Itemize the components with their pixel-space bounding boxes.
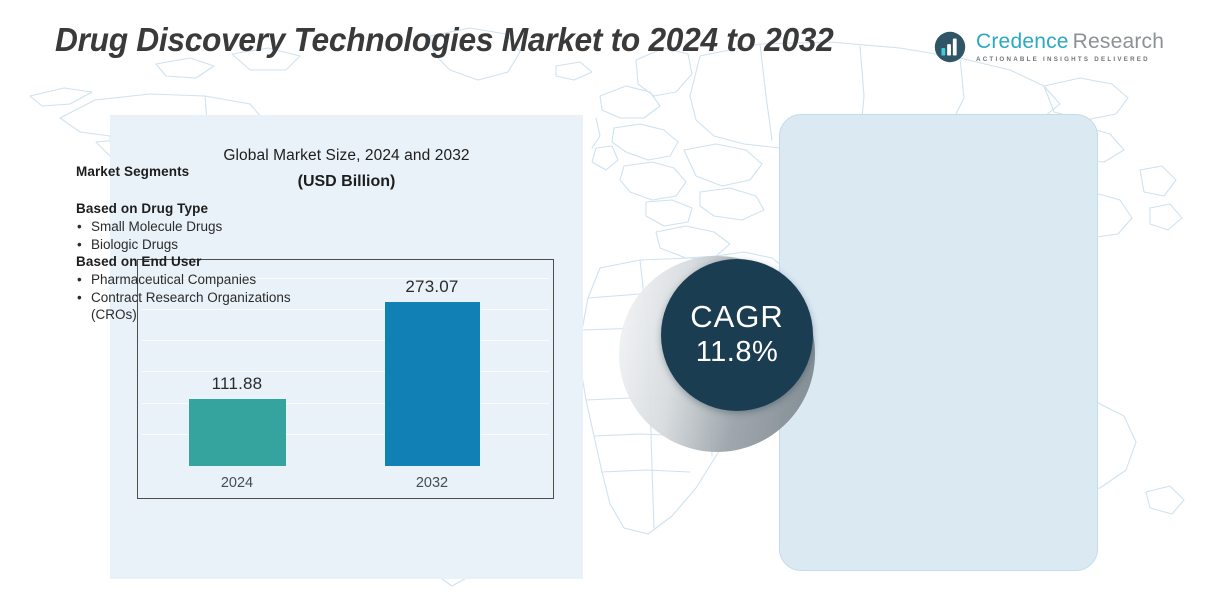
market-segments: Market Segments Based on Drug Type•Small… bbox=[76, 164, 326, 324]
chart-title: Global Market Size, 2024 and 2032 bbox=[110, 147, 583, 165]
bar-value-label: 273.07 bbox=[352, 277, 512, 297]
segment-group: Based on Drug Type•Small Molecule Drugs•… bbox=[76, 201, 326, 253]
list-item: •Pharmaceutical Companies bbox=[76, 271, 326, 288]
bar-chart-circle-icon bbox=[931, 28, 969, 66]
segment-groups: Based on Drug Type•Small Molecule Drugs•… bbox=[76, 201, 326, 323]
cagr-badge: CAGR 11.8% bbox=[619, 276, 835, 432]
brand-name-primary: Credence bbox=[976, 30, 1069, 53]
brand-name-secondary: Research bbox=[1073, 30, 1164, 53]
bullet-icon: • bbox=[77, 236, 82, 253]
bar-2032 bbox=[385, 302, 480, 466]
cagr-value: 11.8% bbox=[696, 336, 779, 369]
bullet-icon: • bbox=[77, 271, 82, 288]
segment-group-heading: Based on Drug Type bbox=[76, 201, 326, 216]
segments-title: Market Segments bbox=[76, 164, 326, 179]
list-item: •Biologic Drugs bbox=[76, 236, 326, 253]
header: Drug Discovery Technologies Market to 20… bbox=[0, 0, 1208, 104]
segment-group: Based on End User•Pharmaceutical Compani… bbox=[76, 254, 326, 323]
brand-tagline: Actionable Insights Delivered bbox=[976, 57, 1164, 63]
list-item: •Contract Research Organizations (CROs) bbox=[76, 289, 326, 323]
x-axis-label: 2024 bbox=[157, 475, 317, 491]
segment-group-heading: Based on End User bbox=[76, 254, 326, 269]
brand-text: CredenceResearch Actionable Insights Del… bbox=[976, 31, 1164, 63]
list-item: •Small Molecule Drugs bbox=[76, 218, 326, 235]
segment-item-list: •Small Molecule Drugs•Biologic Drugs bbox=[76, 218, 326, 253]
bullet-icon: • bbox=[77, 218, 82, 235]
bar-2024 bbox=[189, 399, 286, 466]
x-axis-label: 2032 bbox=[352, 475, 512, 491]
brand-logo[interactable]: CredenceResearch Actionable Insights Del… bbox=[931, 28, 1164, 66]
segment-item-list: •Pharmaceutical Companies•Contract Resea… bbox=[76, 271, 326, 323]
cagr-circle: CAGR 11.8% bbox=[661, 259, 813, 411]
bar-value-label: 111.88 bbox=[157, 374, 317, 394]
cagr-label: CAGR bbox=[690, 301, 784, 334]
bullet-icon: • bbox=[77, 289, 82, 306]
page-title: Drug Discovery Technologies Market to 20… bbox=[55, 20, 871, 60]
